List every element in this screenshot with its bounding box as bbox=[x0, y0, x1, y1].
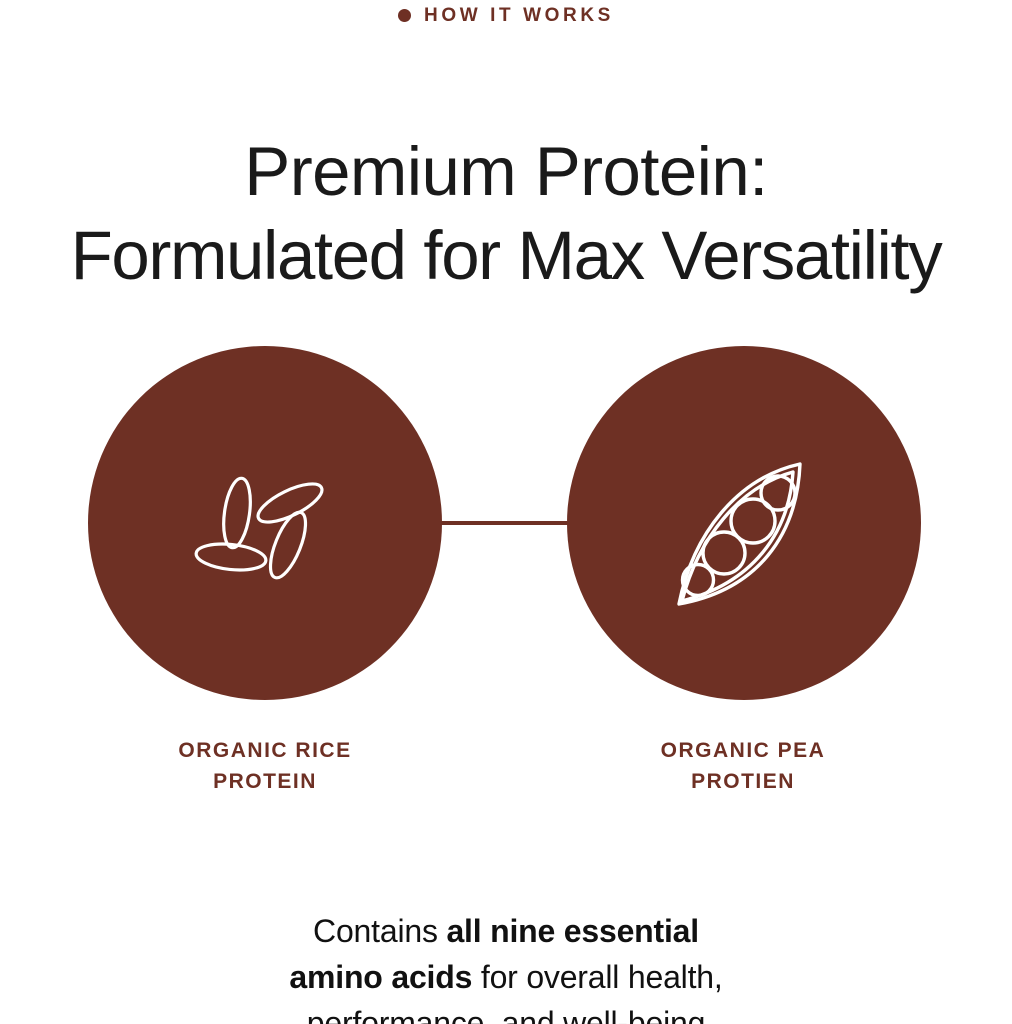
headline-line-1: Premium Protein: bbox=[0, 130, 1012, 213]
ingredient-label-pea-line-1: ORGANIC PEA bbox=[563, 735, 923, 766]
eyebrow-banner: HOW IT WORKS bbox=[0, 0, 1012, 30]
body-line-1-plain: Contains bbox=[313, 913, 446, 949]
body-line-2-bold: amino acids bbox=[289, 959, 472, 995]
ingredient-label-pea: ORGANIC PEA PROTIEN bbox=[563, 735, 923, 797]
ingredient-circles-group bbox=[0, 346, 1012, 702]
ingredient-label-rice-line-2: PROTEIN bbox=[85, 766, 445, 797]
body-line-2-plain: for overall health, bbox=[472, 959, 722, 995]
ingredient-label-pea-line-2: PROTIEN bbox=[563, 766, 923, 797]
headline-line-2: Formulated for Max Versatility bbox=[0, 214, 1012, 297]
bullet-dot-icon bbox=[398, 9, 411, 22]
ingredient-circle-rice bbox=[88, 346, 442, 700]
eyebrow-label: HOW IT WORKS bbox=[424, 6, 614, 25]
ingredient-labels-group: ORGANIC RICE PROTEIN ORGANIC PEA PROTIEN bbox=[0, 735, 1012, 815]
body-line-3: performance, and well-being bbox=[0, 1000, 1012, 1024]
body-line-2: amino acids for overall health, bbox=[0, 954, 1012, 1000]
ingredient-label-rice: ORGANIC RICE PROTEIN bbox=[85, 735, 445, 797]
body-line-1-bold: all nine essential bbox=[446, 913, 699, 949]
pea-pod-icon bbox=[567, 346, 921, 700]
circle-connector-line bbox=[430, 521, 582, 525]
body-description: Contains all nine essential amino acids … bbox=[0, 908, 1012, 1024]
ingredient-label-rice-line-1: ORGANIC RICE bbox=[85, 735, 445, 766]
how-it-works-infographic: HOW IT WORKS Premium Protein: Formulated… bbox=[0, 0, 1012, 1024]
rice-grains-icon bbox=[88, 346, 442, 700]
body-line-1: Contains all nine essential bbox=[0, 908, 1012, 954]
ingredient-circle-pea bbox=[567, 346, 921, 700]
page-title: Premium Protein: Formulated for Max Vers… bbox=[0, 130, 1012, 297]
